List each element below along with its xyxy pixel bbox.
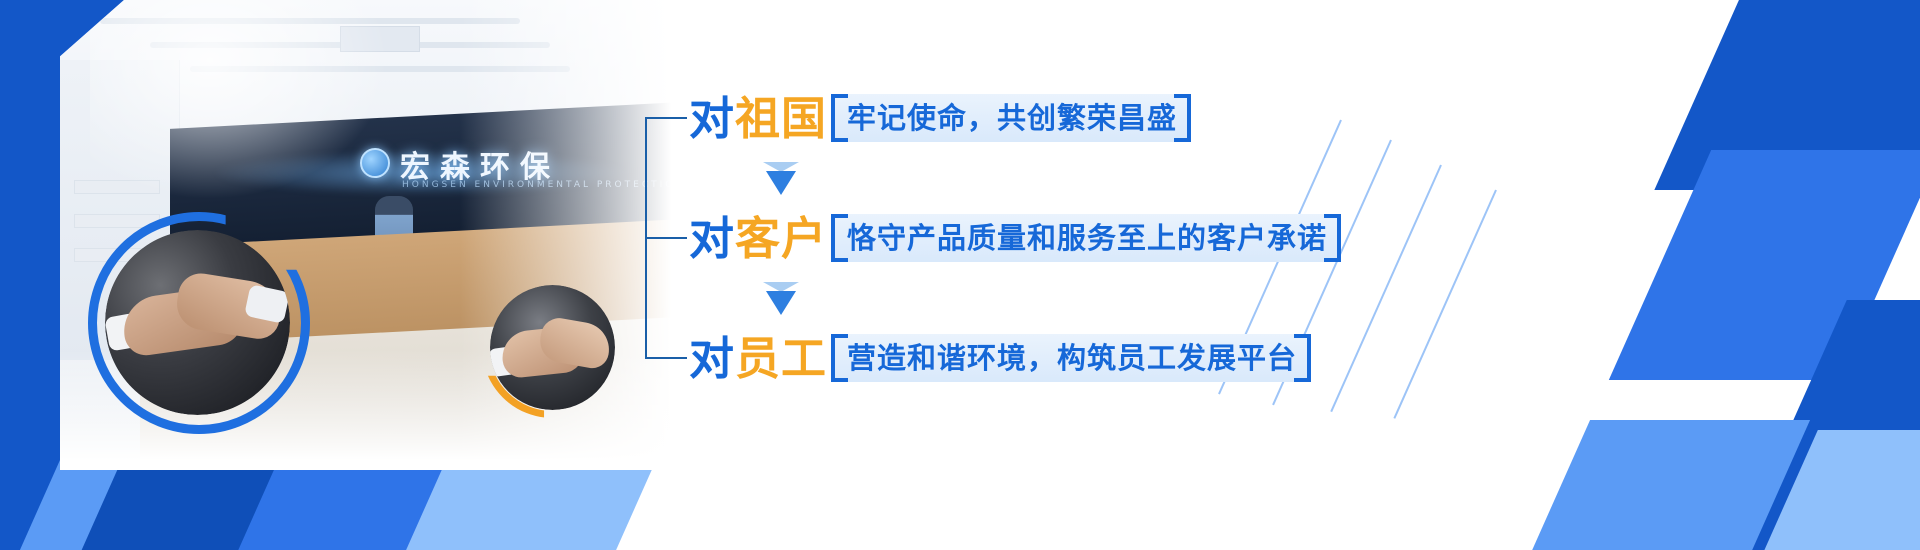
statement-text: 牢记使命，共创繁荣昌盛 [847,104,1177,133]
statement-label-employee: 对员工 [689,336,827,381]
statement-row-customer: 对客户 恪守产品质量和服务至上的客户承诺 [645,202,1385,274]
statement-prefix: 对 [689,212,735,265]
statement-label-country: 对祖国 [689,96,827,141]
statement-bracket-country: 牢记使命，共创繁荣昌盛 [831,94,1191,142]
down-arrow-icon [763,162,799,196]
tree-branch-tick [645,237,687,239]
tree-branch-tick [645,357,687,359]
statement-prefix: 对 [689,92,735,145]
down-arrow-icon [763,282,799,316]
statement-target: 客户 [735,212,827,265]
light-glare [90,0,390,200]
statement-target: 员工 [735,332,827,385]
applause-photo [490,285,615,410]
tree-branch-tick [645,117,687,119]
statement-text: 营造和谐环境，构筑员工发展平台 [847,344,1297,373]
statement-row-employee: 对员工 营造和谐环境，构筑员工发展平台 [645,322,1385,394]
value-statements: 对祖国 牢记使命，共创繁荣昌盛 对客户 恪守产品质量和服务至上的客户承诺 对员工 [645,70,1385,400]
statement-bracket-employee: 营造和谐环境，构筑员工发展平台 [831,334,1311,382]
statement-label-customer: 对客户 [689,216,827,261]
statement-prefix: 对 [689,332,735,385]
handshake-photo [105,230,290,415]
statement-bracket-customer: 恪守产品质量和服务至上的客户承诺 [831,214,1341,262]
statement-text: 恪守产品质量和服务至上的客户承诺 [847,224,1327,253]
statement-row-country: 对祖国 牢记使命，共创繁荣昌盛 [645,82,1385,154]
statement-target: 祖国 [735,92,827,145]
promo-banner: 宏森环保 HONGSEN ENVIRONMENTAL PROTECTION [0,0,1920,550]
